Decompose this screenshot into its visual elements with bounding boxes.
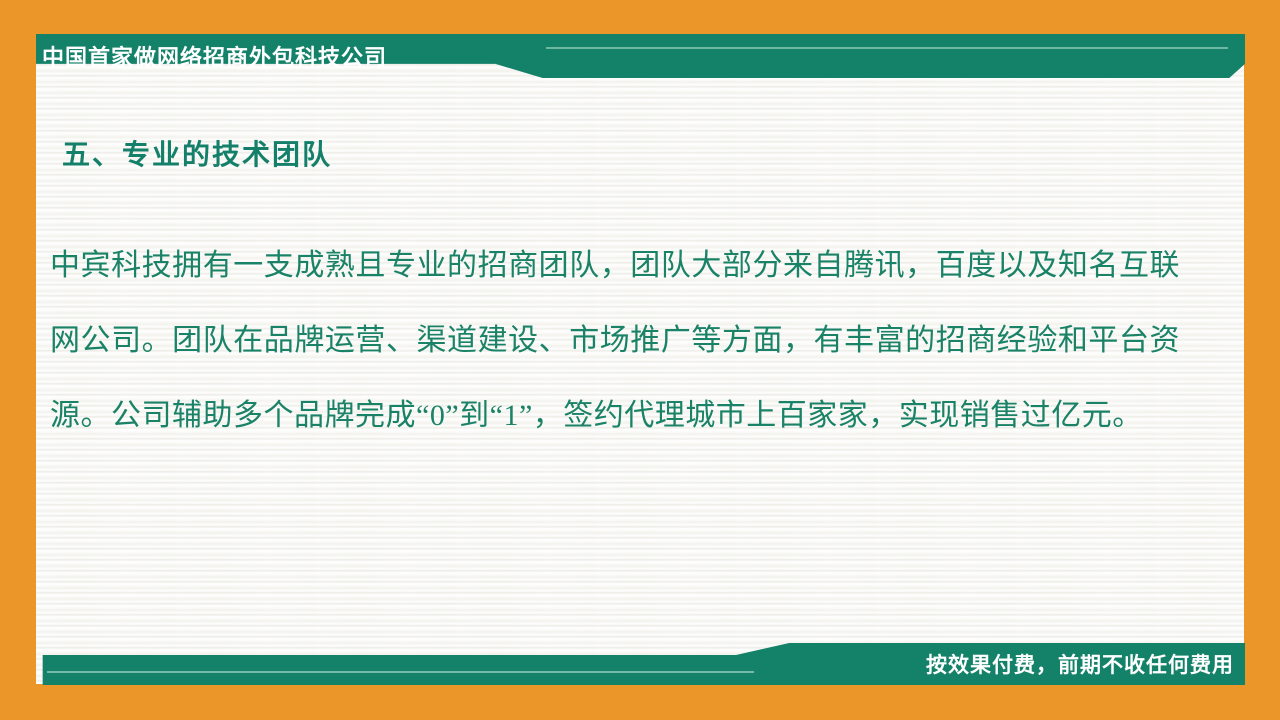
header-accent-rule — [546, 47, 1228, 49]
footer-tagline: 按效果付费，前期不收任何费用 — [926, 643, 1234, 685]
body-copy: 中宾科技拥有一支成熟且专业的招商团队，团队大部分来自腾讯，百度以及知名互联网公司… — [50, 228, 1180, 453]
body-paragraph: 中宾科技拥有一支成熟且专业的招商团队，团队大部分来自腾讯，百度以及知名互联网公司… — [50, 228, 1180, 453]
slide-canvas: 中国首家做网络招商外包科技公司 五、专业的技术团队 中宾科技拥有一支成熟且专业的… — [0, 0, 1280, 720]
footer-accent-rule — [47, 671, 754, 673]
header-title: 中国首家做网络招商外包科技公司 — [42, 34, 387, 78]
section-heading: 五、专业的技术团队 — [62, 133, 332, 173]
